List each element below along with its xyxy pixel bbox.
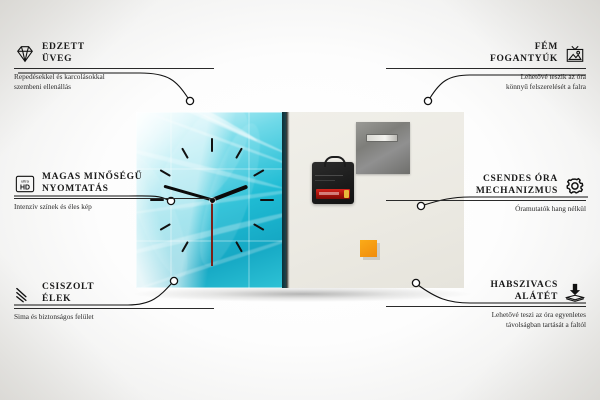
callout-divider [14,308,214,309]
callout-description: Repedésekkel és karcolásokkal szembeni e… [14,72,214,91]
callout-header: CSISZOLT ÉLEK [14,282,214,305]
callout-divider [14,68,214,69]
polished-edges-icon [14,284,36,304]
callout-silent-mechanism[interactable]: CSENDES ÓRA MECHANIZMUS Óramutatók hang … [386,174,586,214]
callout-title: HABSZIVACS ALÁTÉT [490,280,558,303]
callout-polished-edges[interactable]: CSISZOLT ÉLEK Sima és biztonságos felüle… [14,282,214,322]
callout-title: CSISZOLT ÉLEK [42,282,94,305]
callout-description: Lehetővé teszi az óra egyenletes távolsá… [386,310,586,329]
clock-mechanism-part [312,162,354,204]
mechanism-seam [315,175,343,176]
callout-header: CSENDES ÓRA MECHANIZMUS [386,174,586,197]
callout-header: FÉM FOGANTYÚK [386,42,586,65]
svg-text:HD: HD [20,184,30,191]
callout-title: FÉM FOGANTYÚK [490,42,558,65]
mechanism-seam-2 [315,180,335,181]
callout-title: EDZETT ÜVEG [42,42,85,65]
callout-description: Intenzív színek és éles kép [14,202,214,212]
callout-title: MAGAS MINŐSÉGŰ NYOMTATÁS [42,172,142,195]
foam-pad-part [360,240,377,257]
gear-icon [564,176,586,196]
diamond-icon [14,44,36,64]
callout-title: CSENDES ÓRA MECHANIZMUS [476,174,558,197]
callout-divider [386,306,586,307]
callout-hd-print[interactable]: ultra HD MAGAS MINŐSÉGŰ NYOMTATÁS Intenz… [14,172,214,212]
mechanism-loop [324,156,346,167]
callout-description: Óramutatók hang nélkül [386,204,586,214]
clock-hour-hand [211,185,248,202]
callout-divider [14,198,214,199]
foam-pad-arrow-icon [564,282,586,302]
callout-divider [386,200,586,201]
infographic-canvas: EDZETT ÜVEG Repedésekkel és karcolásokka… [0,0,600,400]
battery-part [316,189,350,199]
callout-description: Lehetővé teszik az óra könnyű felszerelé… [386,72,586,91]
hanger-slot [366,134,398,142]
callout-header: ultra HD MAGAS MINŐSÉGŰ NYOMTATÁS [14,172,214,195]
callout-divider [386,68,586,69]
callout-header: HABSZIVACS ALÁTÉT [386,280,586,303]
callout-description: Sima és biztonságos felület [14,312,214,322]
callout-tempered-glass[interactable]: EDZETT ÜVEG Repedésekkel és karcolásokka… [14,42,214,91]
picture-hanger-icon [564,44,586,64]
metal-hanger-part [356,122,410,174]
ultra-hd-badge-icon: ultra HD [14,174,36,194]
callout-header: EDZETT ÜVEG [14,42,214,65]
panel-seam [282,112,289,288]
svg-text:ultra: ultra [21,178,30,183]
callout-foam-pad[interactable]: HABSZIVACS ALÁTÉT Lehetővé teszi az óra … [386,280,586,329]
callout-metal-handles[interactable]: FÉM FOGANTYÚK Lehetővé teszik az óra kön… [386,42,586,91]
